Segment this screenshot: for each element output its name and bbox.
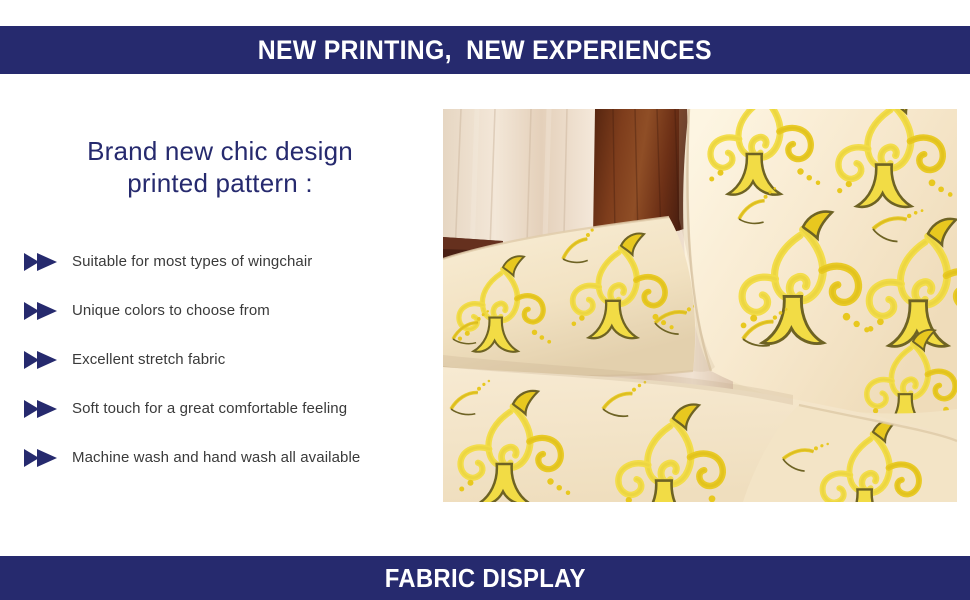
bottom-banner: FABRIC DISPLAY — [0, 556, 970, 600]
headline-line-1: Brand new chic design — [28, 136, 412, 168]
list-item: Machine wash and hand wash all available — [0, 433, 440, 482]
product-photo — [443, 109, 957, 502]
feature-label: Suitable for most types of wingchair — [72, 253, 312, 271]
feature-label: Unique colors to choose from — [72, 302, 270, 320]
list-item: Excellent stretch fabric — [0, 335, 440, 384]
double-arrow-icon — [24, 301, 58, 321]
headline-line-2: printed pattern : — [28, 168, 412, 200]
list-item: Unique colors to choose from — [0, 286, 440, 335]
top-banner: NEW PRINTING, NEW EXPERIENCES — [0, 26, 970, 74]
bottom-banner-title: FABRIC DISPLAY — [384, 563, 585, 594]
list-item: Soft touch for a great comfortable feeli… — [0, 384, 440, 433]
double-arrow-icon — [24, 252, 58, 272]
feature-list: Suitable for most types of wingchair Uni… — [0, 237, 440, 482]
list-item: Suitable for most types of wingchair — [0, 237, 440, 286]
double-arrow-icon — [24, 399, 58, 419]
product-photo-illustration — [443, 109, 957, 502]
feature-label: Soft touch for a great comfortable feeli… — [72, 400, 347, 418]
double-arrow-icon — [24, 448, 58, 468]
double-arrow-icon — [24, 350, 58, 370]
top-banner-title: NEW PRINTING, NEW EXPERIENCES — [258, 35, 712, 66]
feature-label: Machine wash and hand wash all available — [72, 449, 360, 467]
left-content-column: Brand new chic design printed pattern : … — [0, 96, 440, 536]
feature-label: Excellent stretch fabric — [72, 351, 225, 369]
product-banner-page: NEW PRINTING, NEW EXPERIENCES Brand new … — [0, 0, 970, 600]
page-title: Brand new chic design printed pattern : — [28, 136, 412, 199]
